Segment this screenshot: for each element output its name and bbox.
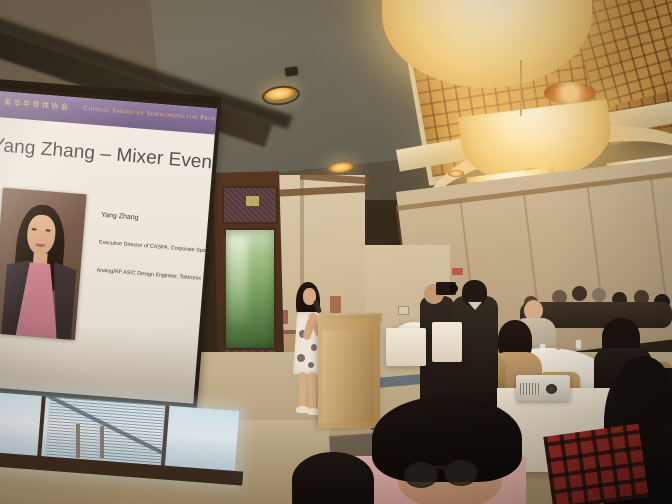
screen-support-leg (76, 424, 80, 458)
slide-banner-english: Chinese American Semiconductor Professio… (83, 105, 217, 128)
draped-table-left (386, 328, 426, 366)
door-glass-reflection (228, 236, 248, 326)
portrait-eye-right (46, 229, 51, 231)
dress-floral-motif-4 (308, 362, 314, 368)
pendant-lamp-2-stem (520, 60, 522, 116)
eyeglasses-bridge (432, 466, 446, 469)
projection-screen: 美华半导体协会 Chinese American Semiconductor P… (0, 86, 221, 410)
ceiling-vent (285, 66, 299, 77)
slide-caption-job: Analog/RF ASIC Design Engineer, Tektroni… (96, 267, 201, 281)
recessed-downlight-3 (448, 170, 464, 177)
dress-floral-motif-3 (297, 354, 305, 362)
water-glass-3 (576, 340, 581, 349)
screen-surface: 美华半导体协会 Chinese American Semiconductor P… (0, 90, 217, 403)
fire-alarm-box (330, 296, 341, 313)
exit-sign (452, 268, 463, 275)
portrait-eye-left (32, 228, 37, 230)
wall-thermostat (398, 306, 409, 315)
guest-head-far-2 (572, 286, 587, 301)
slide-caption-role: Executive Director of CASPA, Corporate S… (99, 240, 217, 256)
speaker-portrait-photo (0, 188, 87, 340)
speaker-leg-right (309, 372, 316, 410)
foreground-person-right-head (614, 356, 672, 426)
projector-vent-grill (520, 383, 540, 395)
slide-caption-name: Yang Zhang (101, 212, 139, 222)
guest-head-far-3 (592, 288, 606, 302)
wine-glass-1 (556, 342, 561, 350)
dress-floral-motif-2 (311, 344, 317, 351)
eyeglasses-right-lens (444, 460, 478, 486)
camera-lens-icon (449, 284, 458, 293)
water-glass-2 (540, 344, 545, 353)
screen-support-leg-2 (100, 426, 104, 458)
podium-front-face (322, 330, 374, 422)
photograph-scene: 美华半导体协会 Chinese American Semiconductor P… (0, 0, 672, 504)
foreground-person-left (292, 452, 374, 504)
draped-table-center (432, 322, 462, 362)
door-sign (246, 196, 259, 206)
slide-title: Yang Zhang – Mixer Event MC (0, 135, 217, 178)
plaid-jacket (543, 424, 648, 504)
projector-lens (546, 384, 557, 394)
slide-banner-chinese: 美华半导体协会 (3, 96, 70, 112)
speaker-leg-left (299, 372, 306, 408)
